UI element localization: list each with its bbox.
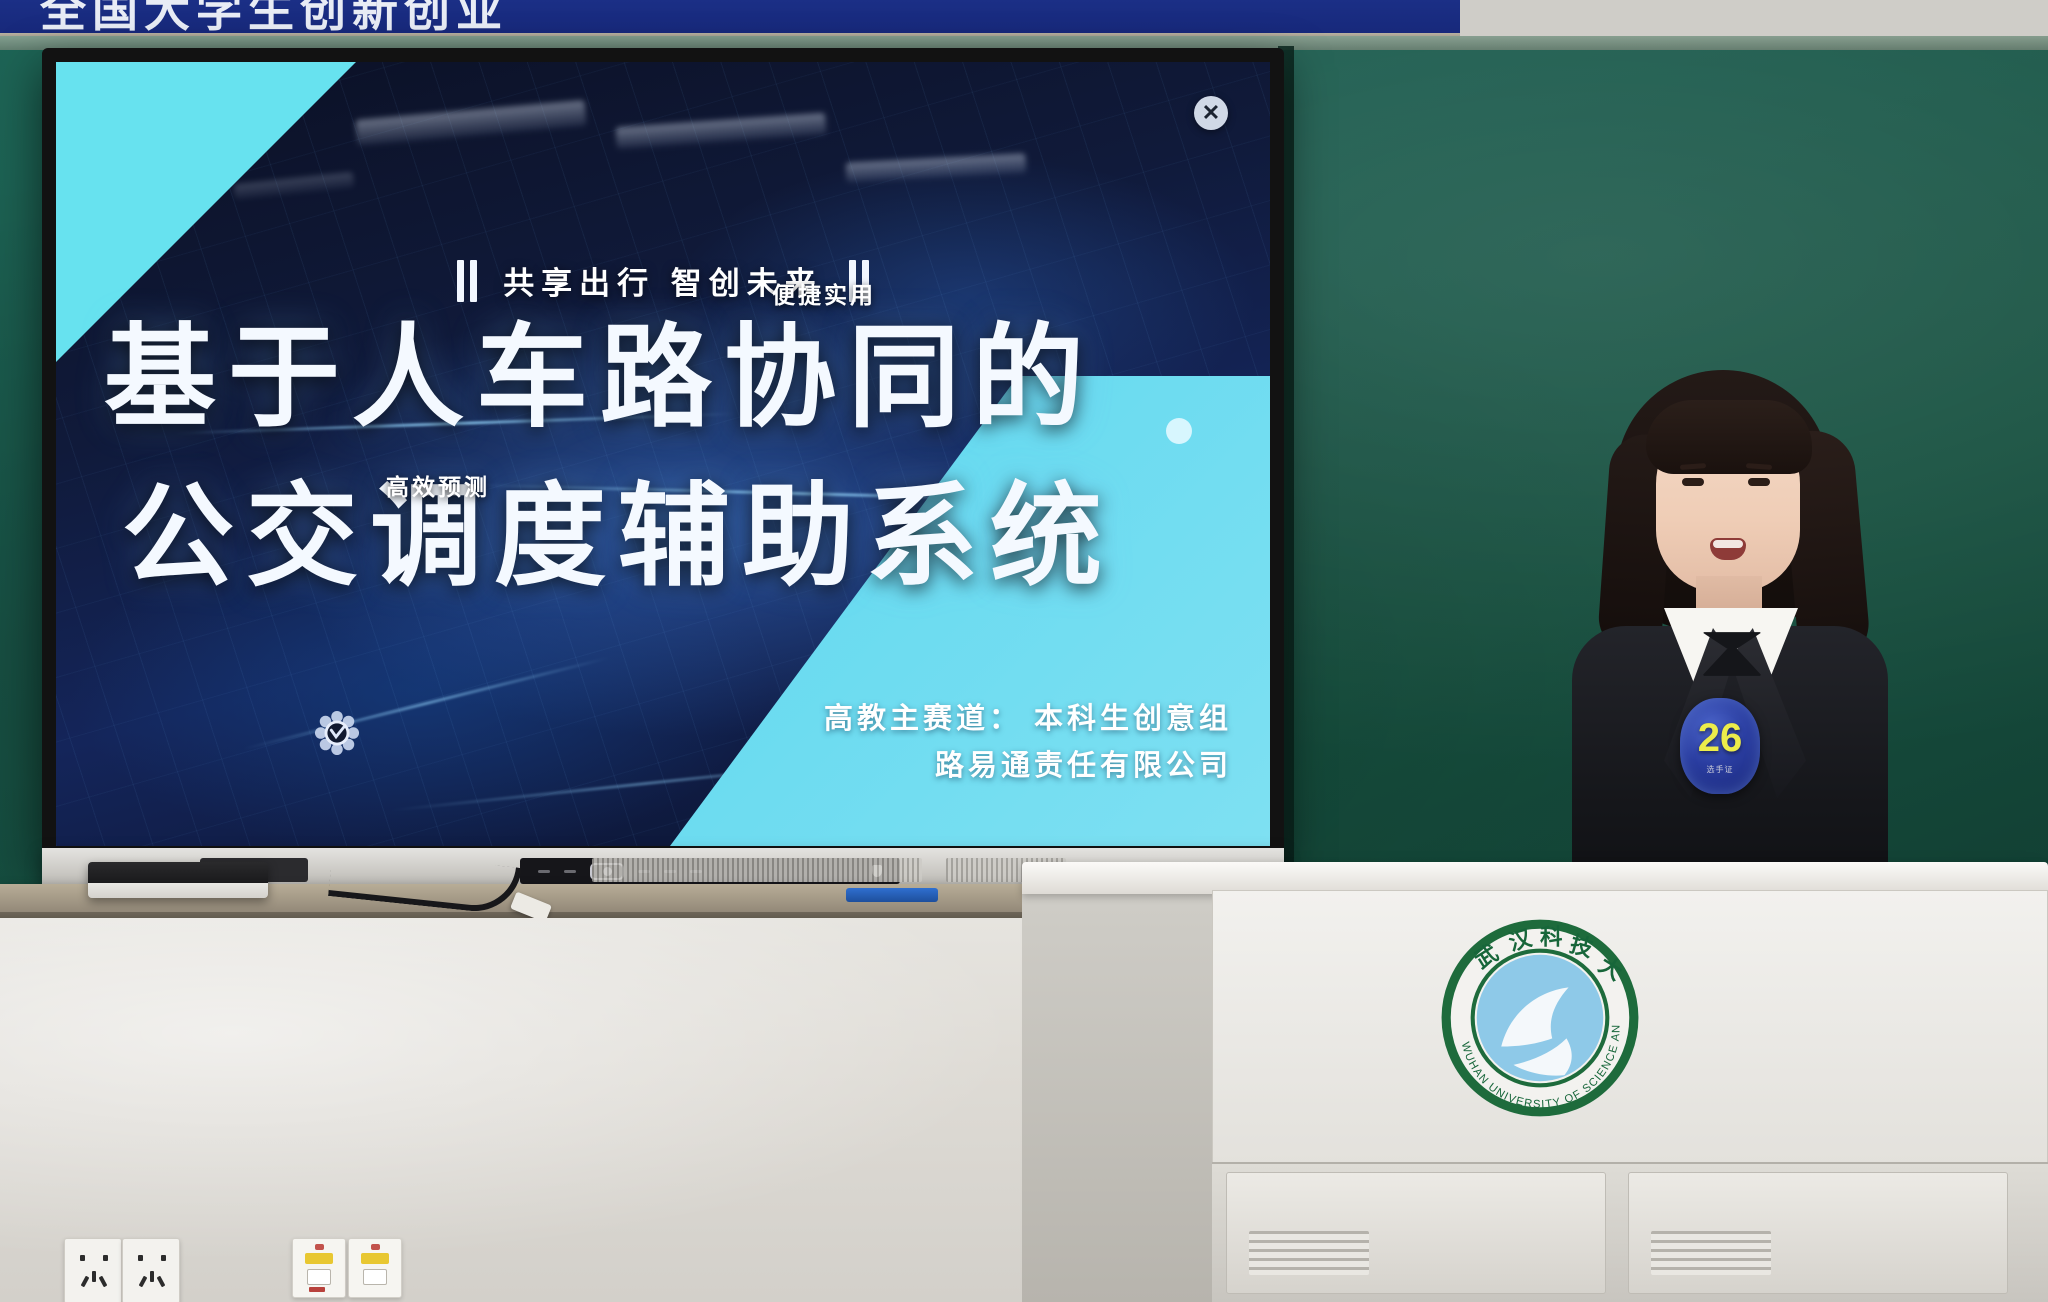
podium-side-panel: [1022, 886, 1220, 1302]
slide-tag-right: 便捷实用: [772, 276, 876, 310]
blue-desk-item: [846, 888, 938, 902]
podium-drawer[interactable]: [1226, 1172, 1606, 1294]
outlet-tri-slots-icon: [83, 1271, 105, 1287]
ceiling-banner: 全国大学生创新创业: [0, 0, 1460, 36]
smart-board-display[interactable]: 共享出行 智创未来 基于人车路协同的 公交调度辅助系统 高效预测 便捷实用: [42, 48, 1284, 860]
eye-right: [1748, 478, 1770, 486]
presenter: 26 选手证: [1560, 360, 1900, 920]
slide-title-line-1: 基于人车路协同的: [104, 298, 1204, 457]
power-outlet[interactable]: [122, 1238, 180, 1302]
drawer-vent-icon: [1249, 1231, 1369, 1275]
hair-fringe: [1646, 400, 1812, 474]
credit-line-company: 路易通责任有限公司: [824, 743, 1232, 790]
svg-text:科: 科: [1540, 925, 1563, 951]
speaker-grille: [592, 858, 922, 882]
power-outlet[interactable]: [64, 1238, 122, 1302]
slide-title-block: 基于人车路协同的 公交调度辅助系统 高效预测 便捷实用: [104, 298, 1204, 616]
data-port[interactable]: [348, 1238, 402, 1298]
port-indicator-icon: [315, 1244, 324, 1250]
data-port[interactable]: [292, 1238, 346, 1298]
mouth: [1710, 538, 1746, 560]
port-label-icon: [305, 1253, 333, 1264]
classroom-scene: 全国大学生创新创业 共享出行 智创未来 基于人车路协同的: [0, 0, 2048, 1302]
close-icon[interactable]: ✕: [1194, 96, 1228, 130]
slide-title-line-2: 公交调度辅助系统: [122, 457, 1204, 616]
gear-icon: [314, 710, 360, 756]
data-port-group[interactable]: [292, 1238, 402, 1298]
power-outlet-group[interactable]: [64, 1238, 180, 1302]
drawer-vent-icon: [1651, 1231, 1771, 1275]
contestant-badge: 26 选手证: [1680, 698, 1760, 794]
slide-screen[interactable]: 共享出行 智创未来 基于人车路协同的 公交调度辅助系统 高效预测 便捷实用: [56, 62, 1270, 846]
university-logo-icon: 武 汉 科 技 大 WUHAN UNIVERSITY OF SCIENCE AN…: [1438, 916, 1642, 1120]
banner-text: 全国大学生创新创业: [40, 0, 508, 36]
control-dot: [538, 870, 550, 873]
outlet-flat-slots-icon: [78, 1255, 110, 1261]
podium-drawer[interactable]: [1628, 1172, 2008, 1294]
slide-tag-left: 高效预测: [386, 468, 490, 502]
port-slot-icon: [307, 1269, 331, 1285]
outlet-flat-slots-icon: [136, 1255, 168, 1261]
badge-number: 26: [1698, 718, 1743, 758]
badge-subtext: 选手证: [1707, 764, 1734, 775]
control-dot: [564, 870, 576, 873]
port-marker-icon: [309, 1287, 325, 1292]
laptop-device[interactable]: [88, 862, 268, 898]
credit-line-track: 高教主赛道： 本科生创意组: [824, 696, 1232, 743]
outlet-tri-slots-icon: [141, 1271, 163, 1287]
port-label-icon: [361, 1253, 389, 1264]
port-indicator-icon: [371, 1244, 380, 1250]
port-slot-icon: [363, 1269, 387, 1285]
eye-left: [1682, 478, 1704, 486]
slide-credits: 高教主赛道： 本科生创意组 路易通责任有限公司: [824, 696, 1232, 790]
